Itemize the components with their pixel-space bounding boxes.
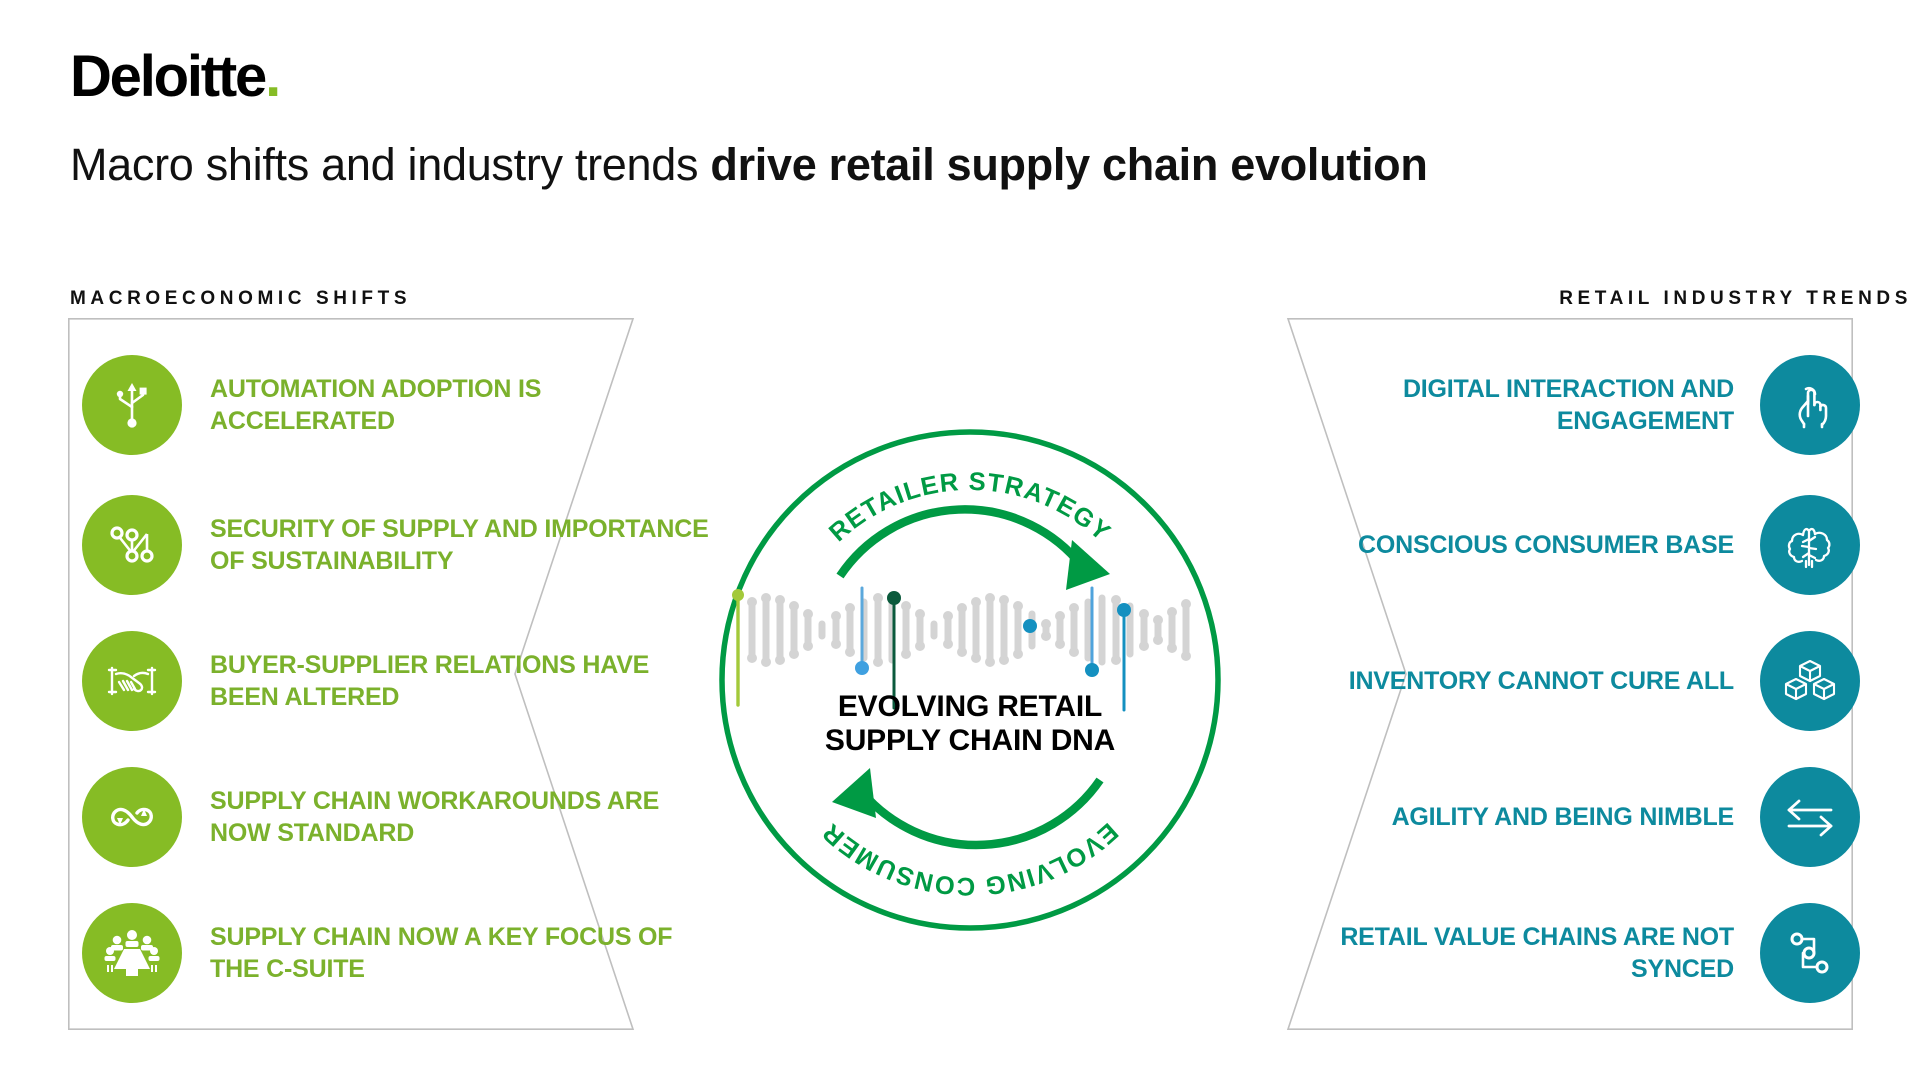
center-caption-line2: SUPPLY CHAIN DNA bbox=[710, 724, 1230, 758]
list-item[interactable]: CONSCIOUS CONSUMER BASE bbox=[1280, 490, 1860, 600]
list-item-label: INVENTORY CANNOT CURE ALL bbox=[1349, 665, 1734, 697]
right-section-heading: RETAIL INDUSTRY TRENDS bbox=[1559, 288, 1912, 310]
list-item[interactable]: RETAIL VALUE CHAINS ARE NOT SYNCED bbox=[1280, 898, 1860, 1008]
evolving-consumer-arrow bbox=[832, 768, 1100, 845]
list-item[interactable]: BUYER-SUPPLIER RELATIONS HAVE BEEN ALTER… bbox=[82, 626, 722, 736]
list-item-label: SUPPLY CHAIN NOW A KEY FOCUS OF THE C-SU… bbox=[210, 921, 722, 985]
boardroom-table-icon bbox=[82, 903, 182, 1003]
list-item-label: BUYER-SUPPLIER RELATIONS HAVE BEEN ALTER… bbox=[210, 649, 722, 713]
dna-dot-teal bbox=[1023, 619, 1037, 633]
bottom-arc-label: EVOLVING CONSUMER bbox=[817, 817, 1123, 900]
usb-automation-icon bbox=[82, 355, 182, 455]
logo-wordmark: Deloitte bbox=[70, 44, 265, 109]
touch-tap-icon bbox=[1760, 355, 1860, 455]
list-item[interactable]: SECURITY OF SUPPLY AND IMPORTANCE OF SUS… bbox=[82, 490, 722, 600]
list-item[interactable]: SUPPLY CHAIN WORKAROUNDS ARE NOW STANDAR… bbox=[82, 762, 722, 872]
two-way-arrows-icon bbox=[1760, 767, 1860, 867]
list-item-label: SECURITY OF SUPPLY AND IMPORTANCE OF SUS… bbox=[210, 513, 722, 577]
page-title-bold: drive retail supply chain evolution bbox=[710, 139, 1427, 190]
list-item-label: CONSCIOUS CONSUMER BASE bbox=[1358, 529, 1734, 561]
stacked-boxes-icon bbox=[1760, 631, 1860, 731]
list-item[interactable]: INVENTORY CANNOT CURE ALL bbox=[1280, 626, 1860, 736]
list-item[interactable]: AGILITY AND BEING NIMBLE bbox=[1280, 762, 1860, 872]
list-item[interactable]: AUTOMATION ADOPTION IS ACCELERATED bbox=[82, 350, 722, 460]
list-item-label: SUPPLY CHAIN WORKAROUNDS ARE NOW STANDAR… bbox=[210, 785, 722, 849]
list-item-label: RETAIL VALUE CHAINS ARE NOT SYNCED bbox=[1280, 921, 1734, 985]
logo-dot: . bbox=[265, 44, 279, 109]
center-caption-line1: EVOLVING RETAIL bbox=[710, 690, 1230, 724]
handshake-icon bbox=[82, 631, 182, 731]
node-chain-icon bbox=[1760, 903, 1860, 1003]
infinity-loop-icon bbox=[82, 767, 182, 867]
left-section-heading: MACROECONOMIC SHIFTS bbox=[70, 288, 411, 310]
list-item[interactable]: SUPPLY CHAIN NOW A KEY FOCUS OF THE C-SU… bbox=[82, 898, 722, 1008]
brain-icon bbox=[1760, 495, 1860, 595]
list-item-label: AGILITY AND BEING NIMBLE bbox=[1392, 801, 1734, 833]
list-item-label: AUTOMATION ADOPTION IS ACCELERATED bbox=[210, 373, 722, 437]
list-item[interactable]: DIGITAL INTERACTION AND ENGAGEMENT bbox=[1280, 350, 1860, 460]
evolving-retail-supply-chain-dna-graphic: RETAILER STRATEGY EVOLVING CONSUMER bbox=[710, 420, 1230, 940]
list-item-label: DIGITAL INTERACTION AND ENGAGEMENT bbox=[1280, 373, 1734, 437]
center-caption: EVOLVING RETAIL SUPPLY CHAIN DNA bbox=[710, 690, 1230, 757]
deloitte-logo: Deloitte. bbox=[70, 48, 279, 106]
page-title-light: Macro shifts and industry trends bbox=[70, 139, 710, 190]
page-title: Macro shifts and industry trends drive r… bbox=[70, 140, 1428, 190]
network-nodes-icon bbox=[82, 495, 182, 595]
